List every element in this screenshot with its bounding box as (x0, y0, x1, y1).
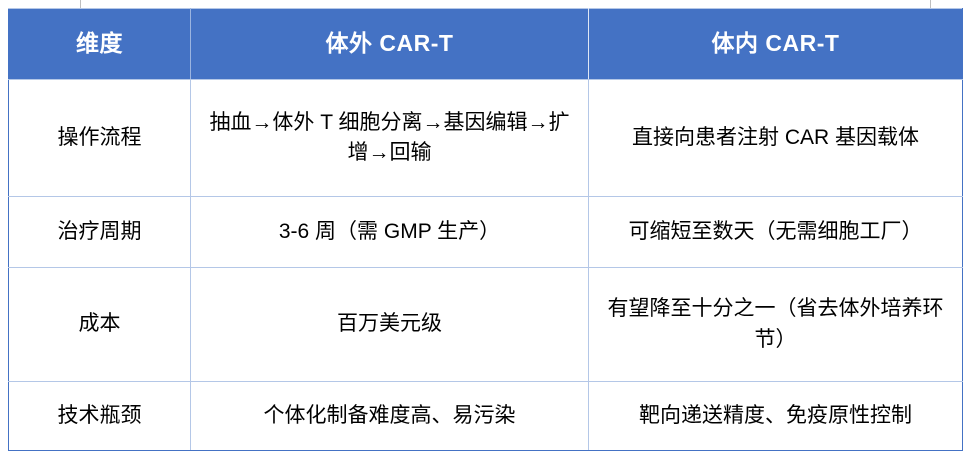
cell-in-vivo-bottleneck: 靶向递送精度、免疫原性控制 (589, 382, 963, 451)
cell-ex-vivo-cost: 百万美元级 (191, 268, 589, 382)
cell-dimension-process: 操作流程 (9, 80, 191, 197)
column-header-dimension: 维度 (9, 9, 191, 80)
cell-dimension-bottleneck: 技术瓶颈 (9, 382, 191, 451)
cell-in-vivo-cost: 有望降至十分之一（省去体外培养环节） (589, 268, 963, 382)
cell-ex-vivo-process: 抽血→体外 T 细胞分离→基因编辑→扩增→回输 (191, 80, 589, 197)
table-row: 操作流程 抽血→体外 T 细胞分离→基因编辑→扩增→回输 直接向患者注射 CAR… (9, 80, 963, 197)
table-row: 治疗周期 3-6 周（需 GMP 生产） 可缩短至数天（无需细胞工厂） (9, 197, 963, 268)
table-header: 维度 体外 CAR-T 体内 CAR-T (9, 9, 963, 80)
cell-in-vivo-process: 直接向患者注射 CAR 基因载体 (589, 80, 963, 197)
cell-in-vivo-cycle: 可缩短至数天（无需细胞工厂） (589, 197, 963, 268)
table-row: 技术瓶颈 个体化制备难度高、易污染 靶向递送精度、免疫原性控制 (9, 382, 963, 451)
table-body: 操作流程 抽血→体外 T 细胞分离→基因编辑→扩增→回输 直接向患者注射 CAR… (9, 80, 963, 451)
column-header-in-vivo-car-t: 体内 CAR-T (589, 9, 963, 80)
table-header-row: 维度 体外 CAR-T 体内 CAR-T (9, 9, 963, 80)
cell-ex-vivo-bottleneck: 个体化制备难度高、易污染 (191, 382, 589, 451)
comparison-table-container: 维度 体外 CAR-T 体内 CAR-T 操作流程 抽血→体外 T 细胞分离→基… (8, 8, 962, 405)
column-header-ex-vivo-car-t: 体外 CAR-T (191, 9, 589, 80)
cell-dimension-cycle: 治疗周期 (9, 197, 191, 268)
car-t-comparison-table: 维度 体外 CAR-T 体内 CAR-T 操作流程 抽血→体外 T 细胞分离→基… (8, 8, 963, 451)
cell-dimension-cost: 成本 (9, 268, 191, 382)
cell-ex-vivo-cycle: 3-6 周（需 GMP 生产） (191, 197, 589, 268)
table-row: 成本 百万美元级 有望降至十分之一（省去体外培养环节） (9, 268, 963, 382)
